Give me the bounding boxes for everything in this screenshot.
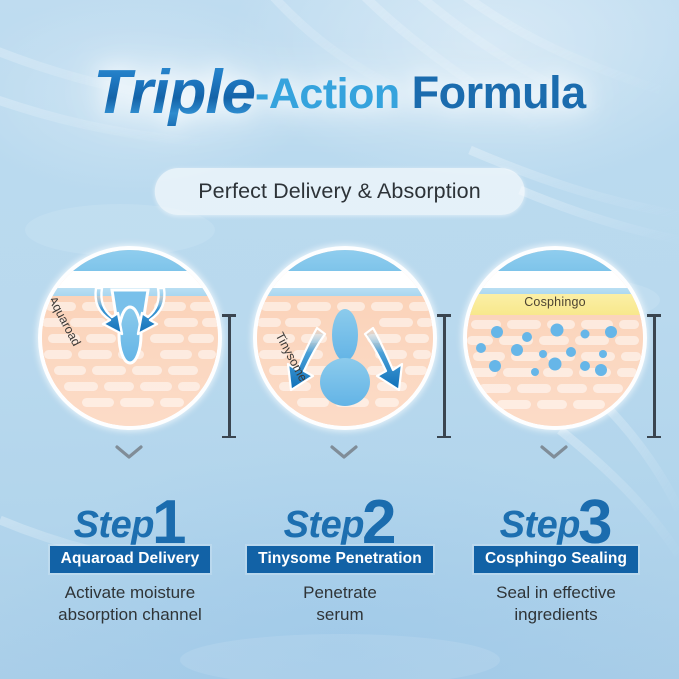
- diagram-cell-aquaroad: Aquaroad: [30, 248, 242, 448]
- step-1-heading: Step1: [18, 486, 242, 546]
- step-3-description: Seal in effective ingredients: [444, 582, 668, 626]
- step-3-heading: Step3: [444, 486, 668, 546]
- skin-cross-section-tinysome: Tinysome: [257, 250, 433, 426]
- title-word-formula: Formula: [400, 67, 586, 118]
- step-1-number: 1: [152, 488, 184, 557]
- diagram-cell-tinysome: Tinysome: [245, 248, 457, 448]
- skin-cross-section-aquaroad: Aquaroad: [42, 250, 218, 426]
- chevron-down-icon: [329, 444, 359, 460]
- step-3-number: 3: [578, 488, 610, 557]
- step-3: Step3 Cosphingo Sealing Seal in effectiv…: [444, 486, 668, 626]
- chevron-down-icon: [539, 444, 569, 460]
- diagram-cell-cosphingo: Cosphingo: [455, 248, 667, 448]
- subtitle-pill: Perfect Delivery & Absorption: [154, 168, 525, 215]
- step-2-heading: Step2: [234, 486, 446, 546]
- title-word-action: -Action: [255, 70, 400, 118]
- step-1-word: Step: [74, 504, 154, 546]
- ingredient-label-cosphingo: Cosphingo: [467, 295, 643, 309]
- step-1-description: Activate moisture absorption channel: [18, 582, 242, 626]
- depth-marker-cosphingo: [647, 314, 661, 438]
- step-2-description: Penetrate serum: [234, 582, 446, 626]
- step-3-badge: Cosphingo Sealing: [474, 546, 638, 573]
- step-2-word: Step: [284, 504, 364, 546]
- step-1: Step1 Aquaroad Delivery Activate moistur…: [18, 486, 242, 626]
- step-1-badge: Aquaroad Delivery: [50, 546, 211, 573]
- step-3-word: Step: [500, 504, 580, 546]
- infographic-poster: Triple-Action Formula Perfect Delivery &…: [0, 0, 679, 679]
- cosphingo-moisture-particles: [467, 250, 643, 426]
- title-word-triple: Triple: [93, 58, 255, 127]
- step-2-badge: Tinysome Penetration: [247, 546, 433, 573]
- depth-marker-aquaroad: [222, 314, 236, 438]
- diagram-row: Aquaroad: [0, 248, 679, 448]
- depth-marker-tinysome: [437, 314, 451, 438]
- skin-cross-section-cosphingo: Cosphingo: [467, 250, 643, 426]
- step-2: Step2 Tinysome Penetration Penetrate ser…: [234, 486, 446, 626]
- step-2-number: 2: [362, 488, 394, 557]
- page-title: Triple-Action Formula: [0, 62, 679, 124]
- chevron-down-icon: [114, 444, 144, 460]
